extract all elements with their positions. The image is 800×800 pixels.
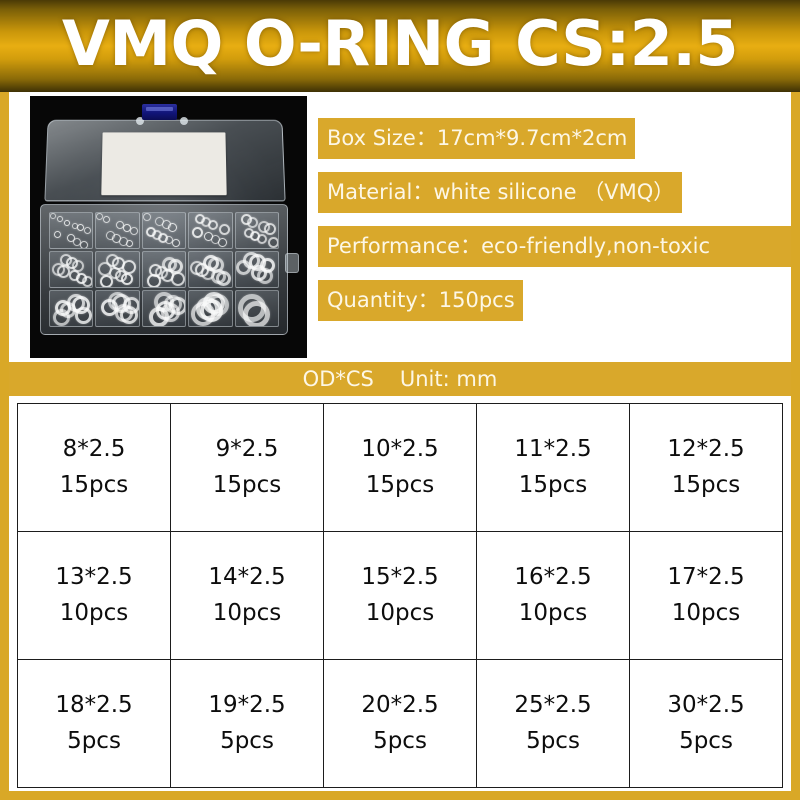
spec-label-box-size: Box Size：	[327, 126, 437, 150]
o-ring-icon	[168, 223, 177, 232]
product-infographic: VMQ O-RING CS:2.5 Box Size：17cm*9.7cm*2c…	[0, 0, 800, 800]
cell-count-value: 5pcs	[477, 724, 629, 760]
compartment	[142, 212, 186, 249]
o-ring-icon	[218, 238, 227, 247]
o-ring-icon	[192, 227, 203, 238]
o-ring-icon	[84, 227, 91, 234]
o-ring-icon	[238, 294, 266, 322]
size-cell: 19*2.55pcs	[171, 660, 324, 788]
size-cell: 15*2.510pcs	[324, 532, 477, 660]
o-ring-icon	[53, 309, 70, 326]
lid-blank-label	[101, 132, 226, 195]
cell-count-value: 10pcs	[630, 596, 782, 632]
o-ring-icon	[130, 227, 138, 235]
compartment	[235, 251, 279, 288]
cell-count-value: 5pcs	[18, 724, 170, 760]
o-ring-icon	[112, 257, 125, 270]
product-photo	[30, 96, 307, 358]
size-quantity-table: 8*2.515pcs9*2.515pcs10*2.515pcs11*2.515p…	[17, 403, 783, 788]
unit-value: mm	[456, 367, 497, 391]
o-ring-icon	[216, 271, 231, 286]
o-ring-icon	[154, 292, 174, 312]
size-cell: 11*2.515pcs	[477, 404, 630, 532]
size-cell: 12*2.515pcs	[630, 404, 783, 532]
title-banner: VMQ O-RING CS:2.5	[0, 0, 800, 92]
spec-value-material: white silicone （VMQ）	[433, 180, 674, 204]
cell-count-value: 5pcs	[630, 724, 782, 760]
cell-count-value: 15pcs	[477, 468, 629, 504]
box-latch-tab-icon	[285, 253, 299, 273]
size-cell: 25*2.55pcs	[477, 660, 630, 788]
cell-size-value: 9*2.5	[171, 432, 323, 468]
cell-size-value: 20*2.5	[324, 688, 476, 724]
o-ring-icon	[172, 239, 180, 247]
cell-count-value: 10pcs	[18, 596, 170, 632]
cell-count-value: 15pcs	[630, 468, 782, 504]
o-ring-icon	[54, 231, 61, 238]
o-ring-icon	[77, 224, 84, 231]
cell-size-value: 18*2.5	[18, 688, 170, 724]
cell-size-value: 14*2.5	[171, 560, 323, 596]
cell-size-value: 30*2.5	[630, 688, 782, 724]
size-cell: 8*2.515pcs	[18, 404, 171, 532]
box-base-compartments	[40, 204, 288, 335]
o-ring-icon	[57, 216, 63, 222]
compartment	[235, 212, 279, 249]
cell-size-value: 19*2.5	[171, 688, 323, 724]
o-ring-icon	[72, 296, 90, 314]
size-cell: 13*2.510pcs	[18, 532, 171, 660]
table-row: 8*2.515pcs9*2.515pcs10*2.515pcs11*2.515p…	[18, 404, 783, 532]
cell-size-value: 17*2.5	[630, 560, 782, 596]
page-title: VMQ O-RING CS:2.5	[0, 7, 800, 81]
spec-band-quantity: Quantity：150pcs	[318, 280, 523, 321]
o-ring-icon	[82, 276, 93, 287]
size-cell: 10*2.515pcs	[324, 404, 477, 532]
spec-row-box-size: Box Size：17cm*9.7cm*2cm	[318, 118, 791, 159]
o-ring-icon	[64, 220, 70, 226]
cell-size-value: 8*2.5	[18, 432, 170, 468]
o-ring-icon	[119, 237, 128, 246]
spec-band-performance: Performance：eco-friendly,non-toxic	[318, 226, 791, 267]
spec-row-quantity: Quantity：150pcs	[318, 280, 791, 321]
unit-band: OD*CSUnit: mm	[9, 362, 791, 396]
table-row: 18*2.55pcs19*2.55pcs20*2.55pcs25*2.55pcs…	[18, 660, 783, 788]
cell-size-value: 12*2.5	[630, 432, 782, 468]
o-ring-icon	[201, 266, 215, 280]
compartment	[188, 212, 232, 249]
spec-label-quantity: Quantity：	[327, 288, 439, 312]
o-ring-icon	[103, 216, 110, 223]
spec-value-box-size: 17cm*9.7cm*2cm	[437, 126, 628, 150]
size-cell: 17*2.510pcs	[630, 532, 783, 660]
cell-count-value: 15pcs	[324, 468, 476, 504]
unit-label: Unit:	[400, 367, 450, 391]
o-ring-icon	[268, 237, 279, 248]
size-cell: 30*2.55pcs	[630, 660, 783, 788]
size-cell: 14*2.510pcs	[171, 532, 324, 660]
spec-value-quantity: 150pcs	[439, 288, 515, 312]
o-ring-icon	[143, 213, 151, 221]
spec-band-material: Material：white silicone （VMQ）	[318, 172, 682, 213]
cell-count-value: 10pcs	[171, 596, 323, 632]
cell-size-value: 10*2.5	[324, 432, 476, 468]
cell-count-value: 15pcs	[171, 468, 323, 504]
o-ring-icon	[219, 224, 230, 235]
compartment	[49, 251, 93, 288]
cell-count-value: 10pcs	[477, 596, 629, 632]
compartment	[142, 251, 186, 288]
o-ring-icon	[249, 254, 266, 271]
spec-band-box-size: Box Size：17cm*9.7cm*2cm	[318, 118, 635, 159]
compartment	[95, 251, 139, 288]
cell-size-value: 15*2.5	[324, 560, 476, 596]
cell-count-value: 5pcs	[171, 724, 323, 760]
o-ring-icon	[50, 213, 56, 219]
size-cell: 9*2.515pcs	[171, 404, 324, 532]
spec-value-performance: eco-friendly,non-toxic	[481, 234, 710, 258]
spec-label-material: Material：	[327, 180, 433, 204]
o-ring-icon	[72, 223, 78, 229]
compartment	[188, 290, 232, 327]
spec-label-performance: Performance：	[327, 234, 481, 258]
o-ring-icon	[264, 223, 276, 235]
unit-measure-label: OD*CS	[303, 367, 374, 391]
table-row: 13*2.510pcs14*2.510pcs15*2.510pcs16*2.51…	[18, 532, 783, 660]
o-ring-icon	[72, 260, 84, 272]
cell-count-value: 5pcs	[324, 724, 476, 760]
o-ring-icon	[121, 273, 133, 285]
o-ring-icon	[247, 217, 258, 228]
hinge-right-icon	[180, 117, 188, 125]
cell-size-value: 13*2.5	[18, 560, 170, 596]
spec-row-performance: Performance：eco-friendly,non-toxic	[318, 226, 791, 267]
compartment	[188, 251, 232, 288]
o-ring-icon	[96, 213, 103, 220]
o-ring-icon	[200, 299, 223, 322]
o-ring-icon	[147, 274, 161, 288]
compartment-grid	[49, 212, 279, 327]
compartment	[142, 290, 186, 327]
cell-size-value: 11*2.5	[477, 432, 629, 468]
compartment	[95, 290, 139, 327]
spec-row-material: Material：white silicone （VMQ）	[318, 172, 791, 213]
o-ring-icon	[100, 275, 113, 288]
compartment	[235, 290, 279, 327]
specification-list: Box Size：17cm*9.7cm*2cm Material：white s…	[318, 118, 791, 334]
compartment	[95, 212, 139, 249]
cell-count-value: 10pcs	[324, 596, 476, 632]
o-ring-icon	[257, 234, 267, 244]
cell-size-value: 16*2.5	[477, 560, 629, 596]
size-cell: 16*2.510pcs	[477, 532, 630, 660]
o-ring-icon	[208, 220, 218, 230]
box-lid	[44, 120, 285, 202]
size-cell: 18*2.55pcs	[18, 660, 171, 788]
size-cell: 20*2.55pcs	[324, 660, 477, 788]
compartment	[49, 290, 93, 327]
cell-size-value: 25*2.5	[477, 688, 629, 724]
compartment	[49, 212, 93, 249]
o-ring-icon	[80, 241, 88, 249]
box-clasp-icon	[142, 104, 177, 120]
cell-count-value: 15pcs	[18, 468, 170, 504]
